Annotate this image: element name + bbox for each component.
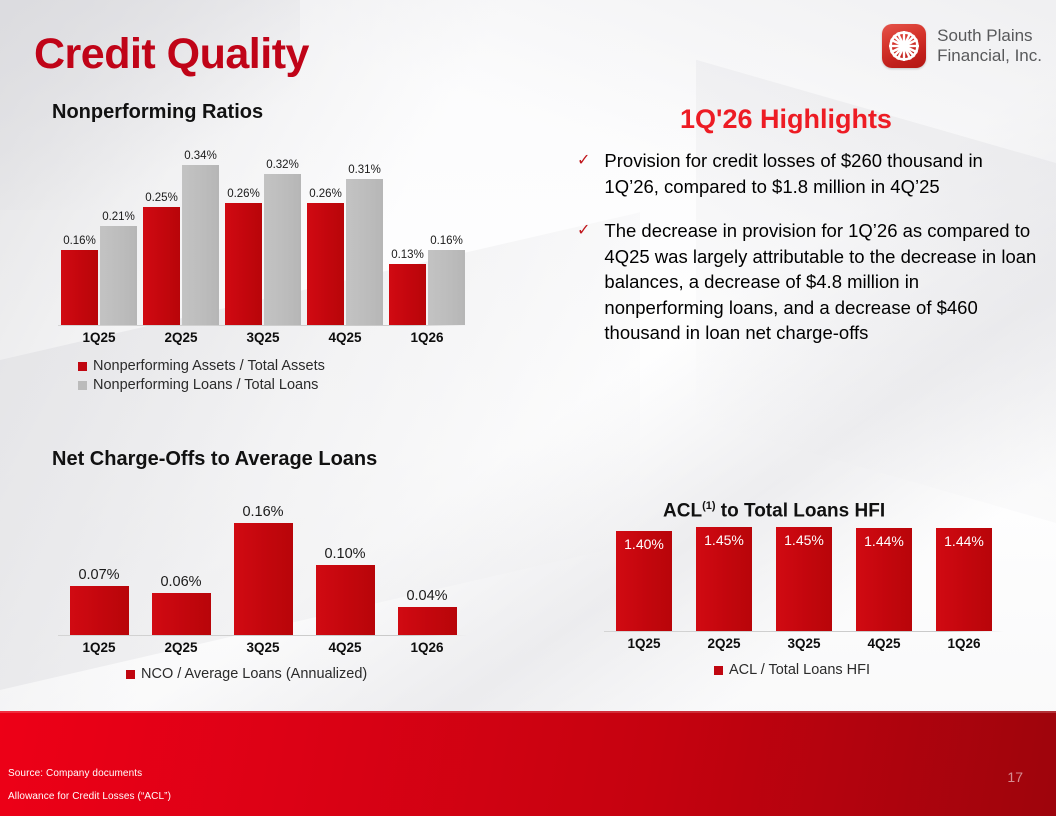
bar-value-label: 0.16% <box>63 235 96 247</box>
highlights-title: 1Q'26 Highlights <box>680 104 892 135</box>
bar-value-label: 0.06% <box>160 574 201 590</box>
bar-group: 1.44% <box>924 528 1004 631</box>
bar-group: 0.16%0.21% <box>58 226 140 325</box>
plot-area: 0.07%0.06%0.16%0.10%0.04% <box>58 492 468 636</box>
x-axis-label: 4Q25 <box>304 640 386 655</box>
bar: 0.10% <box>316 565 375 635</box>
bar: 1.44% <box>936 528 992 631</box>
company-logo: South Plains Financial, Inc. <box>882 24 1042 68</box>
bar-value-label: 1.45% <box>784 532 824 548</box>
x-axis-label: 2Q25 <box>140 330 222 345</box>
bar: 0.16% <box>61 250 98 325</box>
chart-nonperforming-ratios: 0.16%0.21%0.25%0.34%0.26%0.32%0.26%0.31%… <box>58 140 468 326</box>
legend-item[interactable]: Nonperforming Assets / Total Assets <box>78 358 325 374</box>
bar: 0.25% <box>143 207 180 325</box>
page-number: 17 <box>1007 769 1023 785</box>
x-axis-line <box>604 631 1004 632</box>
bar-value-label: 0.26% <box>227 188 260 200</box>
highlight-item: ✓The decrease in provision for 1Q’26 as … <box>577 218 1037 346</box>
x-axis-label: 2Q25 <box>684 636 764 651</box>
legend-label: Nonperforming Loans / Total Loans <box>93 377 318 393</box>
legend-item[interactable]: NCO / Average Loans (Annualized) <box>126 666 367 682</box>
bar: 0.31% <box>346 179 383 325</box>
x-axis-label: 3Q25 <box>222 640 304 655</box>
footer-band: Source: Company documents Allowance for … <box>0 711 1056 816</box>
highlights-list: ✓Provision for credit losses of $260 tho… <box>577 148 1037 365</box>
bar-value-label: 0.32% <box>266 159 299 171</box>
acl-heading-main: ACL <box>663 500 702 521</box>
page-title: Credit Quality <box>34 30 309 79</box>
x-axis-labels: 1Q252Q253Q254Q251Q26 <box>58 330 468 345</box>
bar-group: 0.04% <box>386 607 468 635</box>
x-axis-label: 1Q25 <box>604 636 684 651</box>
chart-legend: Nonperforming Assets / Total AssetsNonpe… <box>78 358 325 393</box>
legend-label: Nonperforming Assets / Total Assets <box>93 358 325 374</box>
plot-area: 1.40%1.45%1.45%1.44%1.44% <box>604 528 1004 632</box>
plot-area: 0.16%0.21%0.25%0.34%0.26%0.32%0.26%0.31%… <box>58 140 468 326</box>
bar-group: 0.16% <box>222 523 304 635</box>
chart-legend: ACL / Total Loans HFI <box>714 662 870 678</box>
highlight-text: The decrease in provision for 1Q’26 as c… <box>604 218 1037 346</box>
footer-source-note: Source: Company documents <box>8 768 142 779</box>
bar: 0.16% <box>428 250 465 325</box>
bar-value-label: 0.16% <box>242 504 283 520</box>
bar: 0.26% <box>307 203 344 325</box>
acl-heading-rest: to Total Loans HFI <box>716 500 886 521</box>
bar: 1.45% <box>776 527 832 631</box>
bar: 0.26% <box>225 203 262 325</box>
bar-group: 1.40% <box>604 531 684 631</box>
slide-canvas: Credit Quality <box>0 0 1056 816</box>
bar-value-label: 0.07% <box>78 567 119 583</box>
bar: 0.06% <box>152 593 211 635</box>
bar-value-label: 0.10% <box>324 546 365 562</box>
bar-group: 1.45% <box>764 527 844 631</box>
bar: 0.21% <box>100 226 137 325</box>
bar-group: 0.06% <box>140 593 222 635</box>
bar-value-label: 0.16% <box>430 235 463 247</box>
chart-legend: NCO / Average Loans (Annualized) <box>126 666 367 682</box>
x-axis-label: 1Q25 <box>58 640 140 655</box>
legend-swatch <box>714 666 723 675</box>
legend-item[interactable]: Nonperforming Loans / Total Loans <box>78 377 325 393</box>
bar-value-label: 1.44% <box>944 533 984 549</box>
acl-heading-superscript: (1) <box>702 500 715 512</box>
checkmark-icon: ✓ <box>577 218 590 346</box>
x-axis-label: 4Q25 <box>304 330 386 345</box>
x-axis-label: 2Q25 <box>140 640 222 655</box>
bar: 0.16% <box>234 523 293 635</box>
x-axis-line <box>58 635 468 636</box>
nonperforming-ratios-heading: Nonperforming Ratios <box>52 101 263 124</box>
bar: 0.32% <box>264 174 301 325</box>
legend-swatch <box>78 362 87 371</box>
highlight-text: Provision for credit losses of $260 thou… <box>604 148 1037 199</box>
bar-value-label: 1.40% <box>624 536 664 552</box>
logo-wordmark: South Plains Financial, Inc. <box>937 26 1042 65</box>
bar-group: 0.26%0.31% <box>304 179 386 325</box>
x-axis-label: 1Q25 <box>58 330 140 345</box>
x-axis-label: 1Q26 <box>386 330 468 345</box>
bar-group: 0.10% <box>304 565 386 635</box>
x-axis-label: 1Q26 <box>386 640 468 655</box>
bar: 0.13% <box>389 264 426 325</box>
bar-value-label: 0.25% <box>145 192 178 204</box>
bar-group: 0.25%0.34% <box>140 165 222 325</box>
bar-value-label: 0.04% <box>406 588 447 604</box>
bar-value-label: 0.21% <box>102 211 135 223</box>
bar-value-label: 0.26% <box>309 188 342 200</box>
x-axis-label: 4Q25 <box>844 636 924 651</box>
wagon-wheel-icon <box>882 24 926 68</box>
legend-swatch <box>126 670 135 679</box>
checkmark-icon: ✓ <box>577 148 590 199</box>
bar-value-label: 0.31% <box>348 164 381 176</box>
bar: 0.34% <box>182 165 219 325</box>
x-axis-label: 3Q25 <box>764 636 844 651</box>
acl-heading: ACL(1) to Total Loans HFI <box>663 500 885 522</box>
bar: 1.40% <box>616 531 672 631</box>
bar-value-label: 1.44% <box>864 533 904 549</box>
logo-line-2: Financial, Inc. <box>937 46 1042 66</box>
bar-value-label: 0.13% <box>391 249 424 261</box>
bar: 1.44% <box>856 528 912 631</box>
x-axis-labels: 1Q252Q253Q254Q251Q26 <box>604 636 1004 651</box>
net-charge-offs-heading: Net Charge-Offs to Average Loans <box>52 448 377 471</box>
x-axis-labels: 1Q252Q253Q254Q251Q26 <box>58 640 468 655</box>
x-axis-label: 1Q26 <box>924 636 1004 651</box>
bar-value-label: 1.45% <box>704 532 744 548</box>
x-axis-line <box>58 325 468 326</box>
bar: 1.45% <box>696 527 752 631</box>
legend-swatch <box>78 381 87 390</box>
logo-line-1: South Plains <box>937 26 1042 46</box>
footer-acl-note: Allowance for Credit Losses (“ACL”) <box>8 791 171 802</box>
highlight-item: ✓Provision for credit losses of $260 tho… <box>577 148 1037 199</box>
bar-group: 0.13%0.16% <box>386 250 468 325</box>
legend-label: ACL / Total Loans HFI <box>729 662 870 678</box>
chart-net-charge-offs: 0.07%0.06%0.16%0.10%0.04% 1Q252Q253Q254Q… <box>58 492 468 636</box>
bar-group: 1.45% <box>684 527 764 631</box>
chart-acl-to-total-loans: 1.40%1.45%1.45%1.44%1.44% 1Q252Q253Q254Q… <box>604 528 1004 632</box>
legend-item[interactable]: ACL / Total Loans HFI <box>714 662 870 678</box>
legend-label: NCO / Average Loans (Annualized) <box>141 666 367 682</box>
bar-group: 1.44% <box>844 528 924 631</box>
bar-value-label: 0.34% <box>184 150 217 162</box>
x-axis-label: 3Q25 <box>222 330 304 345</box>
bar: 0.07% <box>70 586 129 635</box>
bar-group: 0.26%0.32% <box>222 174 304 325</box>
bar: 0.04% <box>398 607 457 635</box>
bar-group: 0.07% <box>58 586 140 635</box>
